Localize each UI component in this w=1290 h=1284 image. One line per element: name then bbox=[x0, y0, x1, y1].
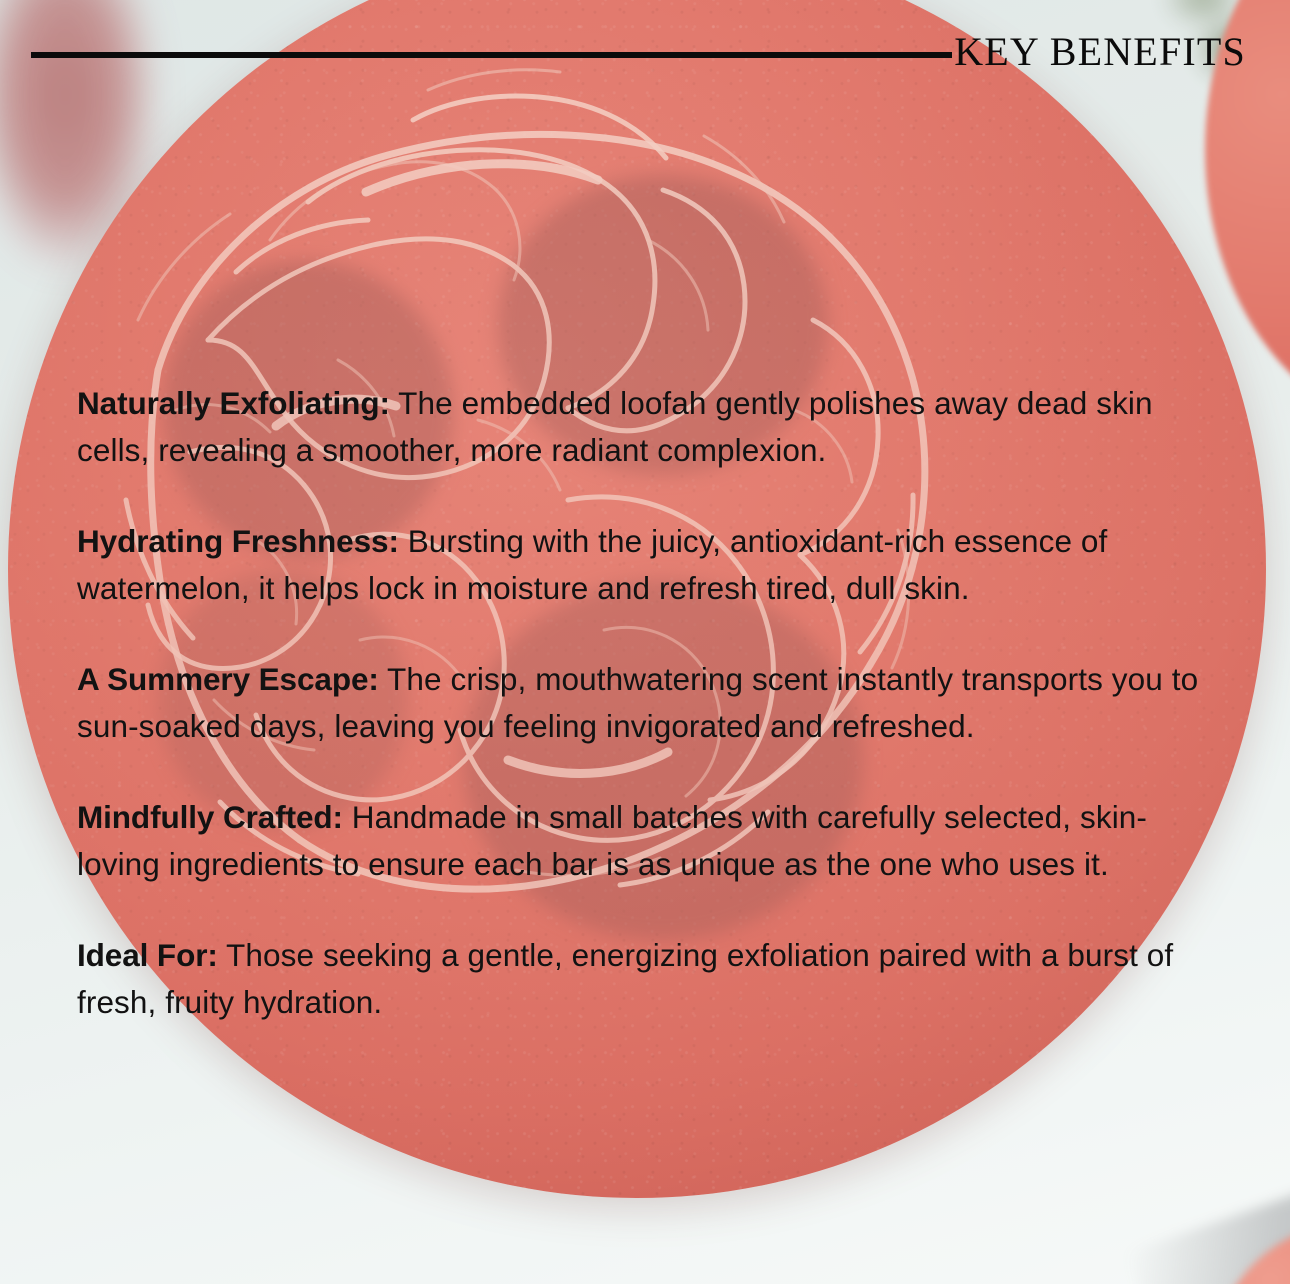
benefit-lead: Ideal For: bbox=[77, 937, 218, 973]
benefit-lead: Mindfully Crafted: bbox=[77, 799, 343, 835]
header: KEY BENEFITS bbox=[0, 0, 1290, 110]
page-title: KEY BENEFITS bbox=[954, 28, 1246, 76]
benefit-item: Hydrating Freshness: Bursting with the j… bbox=[77, 518, 1207, 612]
benefit-item: Ideal For: Those seeking a gentle, energ… bbox=[77, 932, 1207, 1026]
benefits-list: Naturally Exfoliating: The embedded loof… bbox=[77, 380, 1207, 1026]
benefit-body: Those seeking a gentle, energizing exfol… bbox=[77, 937, 1173, 1020]
header-rule-divider bbox=[31, 52, 952, 58]
key-benefits-page: KEY BENEFITS Naturally Exfoliating: The … bbox=[0, 0, 1290, 1284]
benefit-item: Naturally Exfoliating: The embedded loof… bbox=[77, 380, 1207, 474]
benefit-lead: Naturally Exfoliating: bbox=[77, 385, 390, 421]
benefit-item: A Summery Escape: The crisp, mouthwateri… bbox=[77, 656, 1207, 750]
benefit-lead: Hydrating Freshness: bbox=[77, 523, 399, 559]
benefit-lead: A Summery Escape: bbox=[77, 661, 379, 697]
benefit-item: Mindfully Crafted: Handmade in small bat… bbox=[77, 794, 1207, 888]
